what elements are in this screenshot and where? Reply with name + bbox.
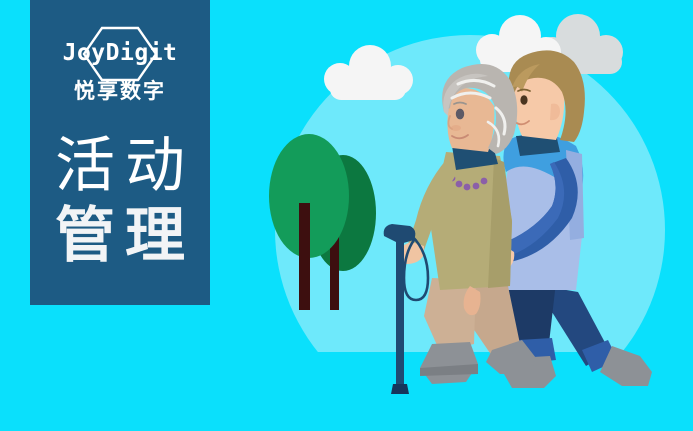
brand-wordmark: JoyDigit [30,38,210,68]
poster-canvas: JoyDigit 悦享数字 活动 管理 [0,0,693,431]
page-title-line2: 管理 [30,204,210,268]
title-panel: JoyDigit 悦享数字 活动 管理 [30,0,210,305]
elderly-woman-head [442,64,517,154]
brand-logo[interactable]: JoyDigit 悦享数字 [30,26,210,126]
page-title: 活动 管理 [30,134,210,268]
young-man-head [509,50,585,142]
page-title-line1: 活动 [30,134,210,198]
brand-chinese-name: 悦享数字 [30,78,210,106]
